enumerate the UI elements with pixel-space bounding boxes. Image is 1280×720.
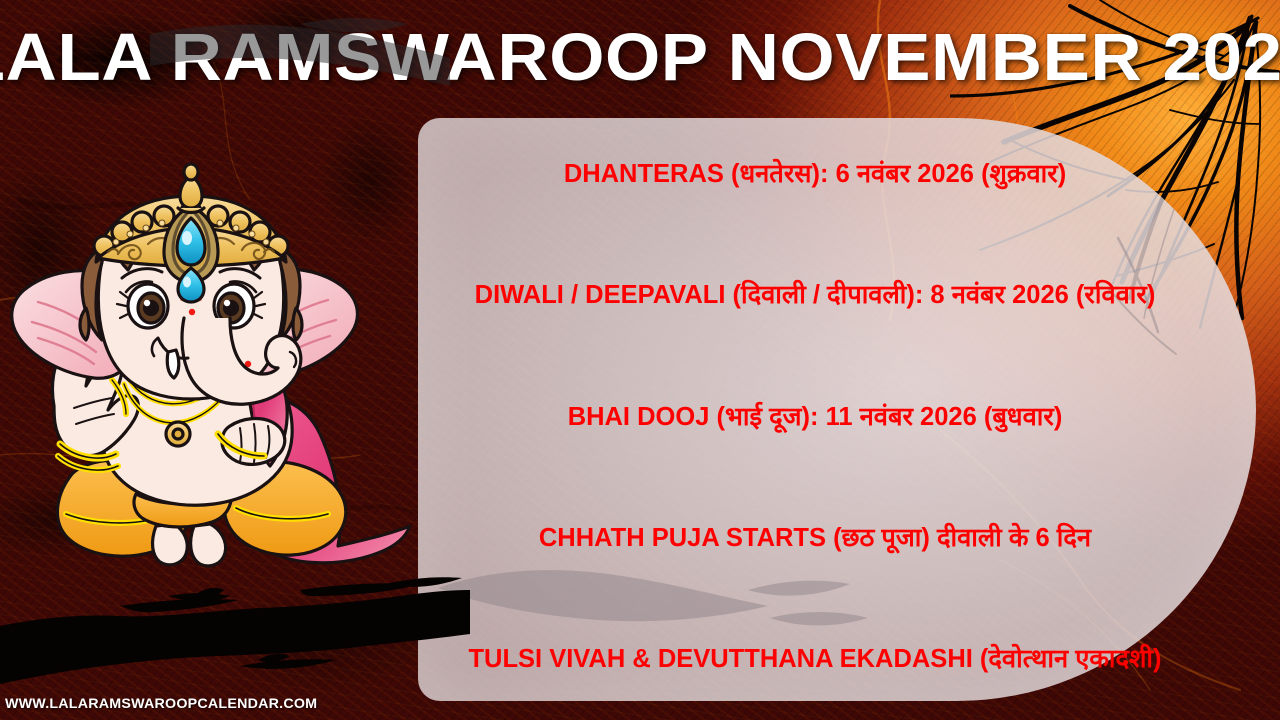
event-item-diwali: DIWALI / DEEPAVALI (दिवाली / दीपावली): 8… — [420, 279, 1210, 312]
tree-branch-overlap-icon — [150, 0, 450, 130]
ganesha-illustration — [8, 122, 418, 572]
event-item-dhanteras: DHANTERAS (धनतेरस): 6 नवंबर 2026 (शुक्रव… — [420, 158, 1210, 191]
event-item-tulsi-vivah: TULSI VIVAH & DEVUTTHANA EKADASHI (देवोत… — [420, 643, 1210, 676]
calendar-poster: LALA RAMSWAROOP NOVEMBER 2026 DHANTERAS … — [0, 0, 1280, 720]
event-list: DHANTERAS (धनतेरस): 6 नवंबर 2026 (शुक्रव… — [420, 140, 1210, 690]
event-item-bhai-dooj: BHAI DOOJ (भाई दूज): 11 नवंबर 2026 (बुधव… — [420, 401, 1210, 434]
website-url: WWW.LALARAMSWAROOPCALENDAR.COM — [5, 695, 317, 711]
event-item-chhath-puja: CHHATH PUJA STARTS (छठ पूजा) दीवाली के 6… — [420, 522, 1210, 555]
